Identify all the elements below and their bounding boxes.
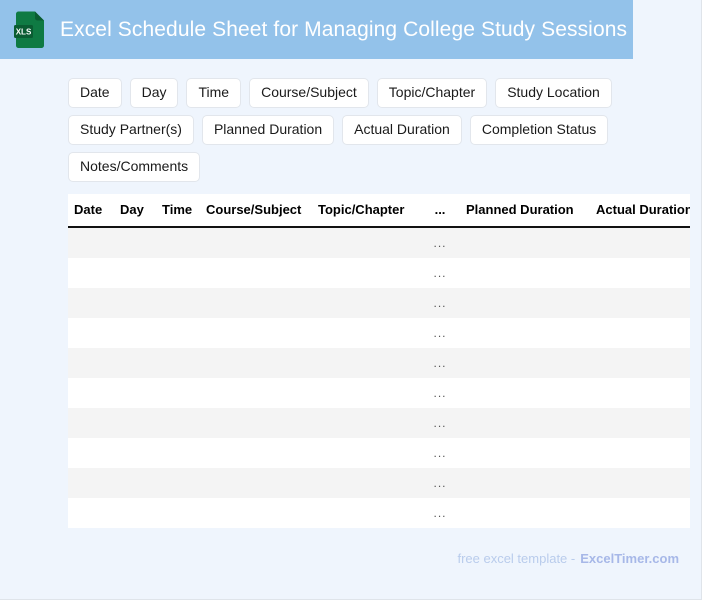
table-row[interactable]: ... (68, 288, 690, 318)
svg-text:XLS: XLS (16, 27, 32, 36)
cell-day[interactable] (114, 348, 156, 378)
cell-planned[interactable] (460, 438, 590, 468)
cell-topic[interactable] (312, 408, 420, 438)
cell-actual[interactable] (590, 227, 690, 258)
cell-time[interactable] (156, 258, 200, 288)
schedule-table-container: Date Day Time Course/Subject Topic/Chapt… (68, 194, 690, 528)
table-body: ... ... (68, 227, 690, 528)
cell-course[interactable] (200, 378, 312, 408)
cell-course[interactable] (200, 288, 312, 318)
chip-study-partners[interactable]: Study Partner(s) (68, 115, 194, 145)
column-header-time[interactable]: Time (156, 194, 200, 227)
cell-day[interactable] (114, 288, 156, 318)
cell-course[interactable] (200, 318, 312, 348)
cell-topic[interactable] (312, 348, 420, 378)
column-header-planned-duration[interactable]: Planned Duration (460, 194, 590, 227)
table-row[interactable]: ... (68, 408, 690, 438)
cell-ellipsis: ... (420, 227, 460, 258)
column-header-ellipsis: ... (420, 194, 460, 227)
column-chip-list: Date Day Time Course/Subject Topic/Chapt… (68, 78, 628, 182)
cell-course[interactable] (200, 348, 312, 378)
column-header-actual-duration[interactable]: Actual Duration (590, 194, 690, 227)
chip-time[interactable]: Time (186, 78, 241, 108)
cell-date[interactable] (68, 498, 114, 528)
cell-actual[interactable] (590, 438, 690, 468)
cell-time[interactable] (156, 378, 200, 408)
schedule-table: Date Day Time Course/Subject Topic/Chapt… (68, 194, 690, 528)
cell-planned[interactable] (460, 348, 590, 378)
cell-day[interactable] (114, 438, 156, 468)
cell-course[interactable] (200, 498, 312, 528)
cell-time[interactable] (156, 498, 200, 528)
chip-notes-comments[interactable]: Notes/Comments (68, 152, 200, 182)
cell-date[interactable] (68, 288, 114, 318)
cell-ellipsis: ... (420, 408, 460, 438)
cell-day[interactable] (114, 227, 156, 258)
table-row[interactable]: ... (68, 258, 690, 288)
table-row[interactable]: ... (68, 468, 690, 498)
chip-date[interactable]: Date (68, 78, 122, 108)
chip-planned-duration[interactable]: Planned Duration (202, 115, 334, 145)
cell-date[interactable] (68, 227, 114, 258)
cell-planned[interactable] (460, 288, 590, 318)
cell-day[interactable] (114, 468, 156, 498)
chip-topic-chapter[interactable]: Topic/Chapter (377, 78, 487, 108)
cell-topic[interactable] (312, 318, 420, 348)
table-row[interactable]: ... (68, 498, 690, 528)
cell-course[interactable] (200, 258, 312, 288)
table-row[interactable]: ... (68, 378, 690, 408)
cell-actual[interactable] (590, 288, 690, 318)
cell-day[interactable] (114, 498, 156, 528)
cell-ellipsis: ... (420, 378, 460, 408)
cell-planned[interactable] (460, 227, 590, 258)
cell-topic[interactable] (312, 288, 420, 318)
cell-day[interactable] (114, 378, 156, 408)
cell-ellipsis: ... (420, 468, 460, 498)
cell-date[interactable] (68, 348, 114, 378)
cell-date[interactable] (68, 378, 114, 408)
cell-planned[interactable] (460, 378, 590, 408)
cell-time[interactable] (156, 438, 200, 468)
cell-day[interactable] (114, 318, 156, 348)
cell-ellipsis: ... (420, 258, 460, 288)
cell-actual[interactable] (590, 378, 690, 408)
cell-day[interactable] (114, 258, 156, 288)
cell-topic[interactable] (312, 258, 420, 288)
cell-ellipsis: ... (420, 288, 460, 318)
column-header-day[interactable]: Day (114, 194, 156, 227)
cell-topic[interactable] (312, 438, 420, 468)
cell-time[interactable] (156, 288, 200, 318)
cell-ellipsis: ... (420, 348, 460, 378)
chip-day[interactable]: Day (130, 78, 179, 108)
cell-course[interactable] (200, 227, 312, 258)
cell-actual[interactable] (590, 408, 690, 438)
cell-actual[interactable] (590, 318, 690, 348)
cell-topic[interactable] (312, 378, 420, 408)
cell-day[interactable] (114, 408, 156, 438)
cell-time[interactable] (156, 408, 200, 438)
table-row[interactable]: ... (68, 438, 690, 468)
chip-actual-duration[interactable]: Actual Duration (342, 115, 462, 145)
cell-date[interactable] (68, 468, 114, 498)
table-header-row: Date Day Time Course/Subject Topic/Chapt… (68, 194, 690, 227)
cell-actual[interactable] (590, 468, 690, 498)
cell-topic[interactable] (312, 227, 420, 258)
footer-brand-link[interactable]: ExcelTimer.com (580, 551, 679, 566)
cell-time[interactable] (156, 468, 200, 498)
cell-time[interactable] (156, 318, 200, 348)
cell-course[interactable] (200, 408, 312, 438)
cell-date[interactable] (68, 318, 114, 348)
cell-date[interactable] (68, 438, 114, 468)
cell-course[interactable] (200, 438, 312, 468)
cell-time[interactable] (156, 227, 200, 258)
chip-course-subject[interactable]: Course/Subject (249, 78, 369, 108)
cell-topic[interactable] (312, 468, 420, 498)
cell-ellipsis: ... (420, 498, 460, 528)
table-header: Date Day Time Course/Subject Topic/Chapt… (68, 194, 690, 227)
cell-planned[interactable] (460, 318, 590, 348)
cell-time[interactable] (156, 348, 200, 378)
page-root: XLS Excel Schedule Sheet for Managing Co… (0, 0, 702, 600)
table-row[interactable]: ... (68, 348, 690, 378)
cell-date[interactable] (68, 258, 114, 288)
cell-actual[interactable] (590, 498, 690, 528)
cell-ellipsis: ... (420, 318, 460, 348)
cell-planned[interactable] (460, 408, 590, 438)
footer-free-label: free excel template - (457, 551, 575, 566)
cell-planned[interactable] (460, 468, 590, 498)
page-title: Excel Schedule Sheet for Managing Colleg… (60, 17, 627, 43)
cell-course[interactable] (200, 468, 312, 498)
header-banner: XLS Excel Schedule Sheet for Managing Co… (0, 0, 633, 59)
cell-planned[interactable] (460, 258, 590, 288)
cell-date[interactable] (68, 408, 114, 438)
footer-attribution: free excel template -ExcelTimer.com (457, 551, 679, 567)
chip-completion-status[interactable]: Completion Status (470, 115, 608, 145)
xls-file-icon: XLS (14, 11, 46, 49)
cell-actual[interactable] (590, 348, 690, 378)
column-header-date[interactable]: Date (68, 194, 114, 227)
cell-ellipsis: ... (420, 438, 460, 468)
column-header-course-subject[interactable]: Course/Subject (200, 194, 312, 227)
table-row[interactable]: ... (68, 318, 690, 348)
cell-actual[interactable] (590, 258, 690, 288)
table-row[interactable]: ... (68, 227, 690, 258)
chip-study-location[interactable]: Study Location (495, 78, 612, 108)
cell-topic[interactable] (312, 498, 420, 528)
column-header-topic-chapter[interactable]: Topic/Chapter (312, 194, 420, 227)
cell-planned[interactable] (460, 498, 590, 528)
